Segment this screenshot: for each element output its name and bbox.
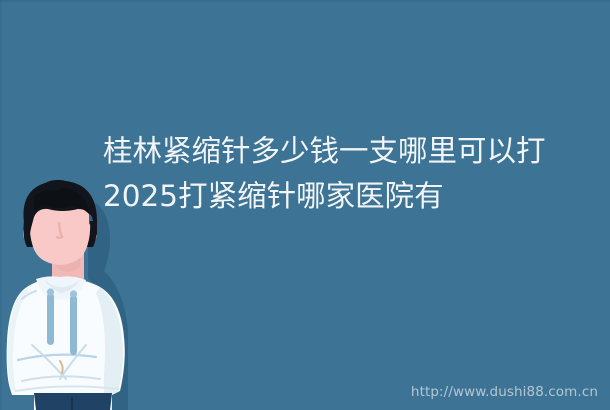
headline-line-2: 2025打紧缩针哪家医院有 — [103, 174, 573, 219]
promo-banner: 桂林紧缩针多少钱一支哪里可以打 2025打紧缩针哪家医院有 http://www… — [0, 0, 610, 410]
pants — [34, 393, 112, 410]
headline: 桂林紧缩针多少钱一支哪里可以打 2025打紧缩针哪家医院有 — [103, 129, 573, 219]
hoodie — [7, 276, 125, 410]
headline-line-1: 桂林紧缩针多少钱一支哪里可以打 — [103, 129, 573, 174]
watermark-url: http://www.dushi88.com.cn — [411, 384, 598, 400]
